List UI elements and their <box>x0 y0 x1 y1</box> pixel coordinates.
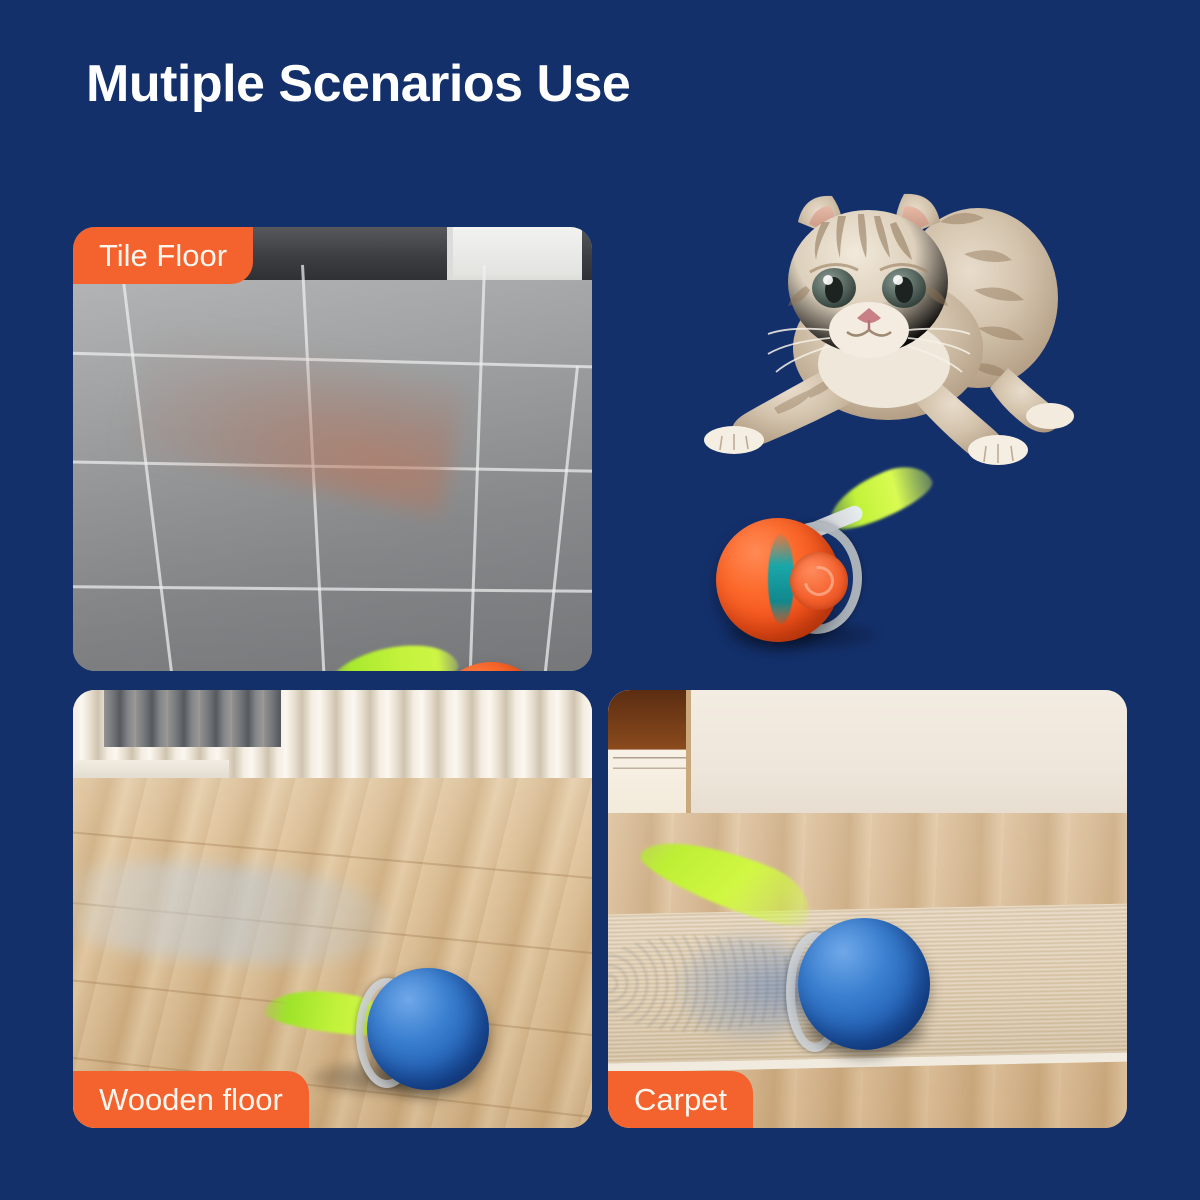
toy-ball <box>798 918 930 1050</box>
badge-wooden-floor: Wooden floor <box>73 1071 309 1128</box>
ball-toy-blue <box>618 840 948 1070</box>
ball-toy-orange <box>321 632 551 671</box>
wooden-floor-photo <box>73 690 592 1128</box>
badge-label: Tile Floor <box>99 240 227 271</box>
product-feature-page: Mutiple Scenarios Use <box>0 0 1200 1200</box>
curtain-shadowed-section <box>104 690 280 747</box>
badge-carpet: Carpet <box>608 1071 753 1128</box>
scenario-card-tile[interactable]: Tile Floor <box>73 227 592 671</box>
carpet-photo <box>608 690 1127 1128</box>
badge-label: Wooden floor <box>99 1084 283 1115</box>
toy-ball <box>367 968 489 1090</box>
grout-line <box>73 585 592 593</box>
grout-line <box>540 366 580 671</box>
tile-floor-photo <box>73 227 592 671</box>
badge-label: Carpet <box>634 1084 727 1115</box>
scenario-card-carpet[interactable]: Carpet <box>608 690 1127 1128</box>
hero-ball-toy <box>712 470 932 650</box>
page-title: Mutiple Scenarios Use <box>86 57 630 112</box>
feather-tail <box>320 634 462 671</box>
badge-tile-floor: Tile Floor <box>73 227 253 284</box>
scenario-card-wooden-floor[interactable]: Wooden floor <box>73 690 592 1128</box>
kitten-illustration <box>678 178 1098 478</box>
furniture-detail-lines <box>613 743 686 778</box>
